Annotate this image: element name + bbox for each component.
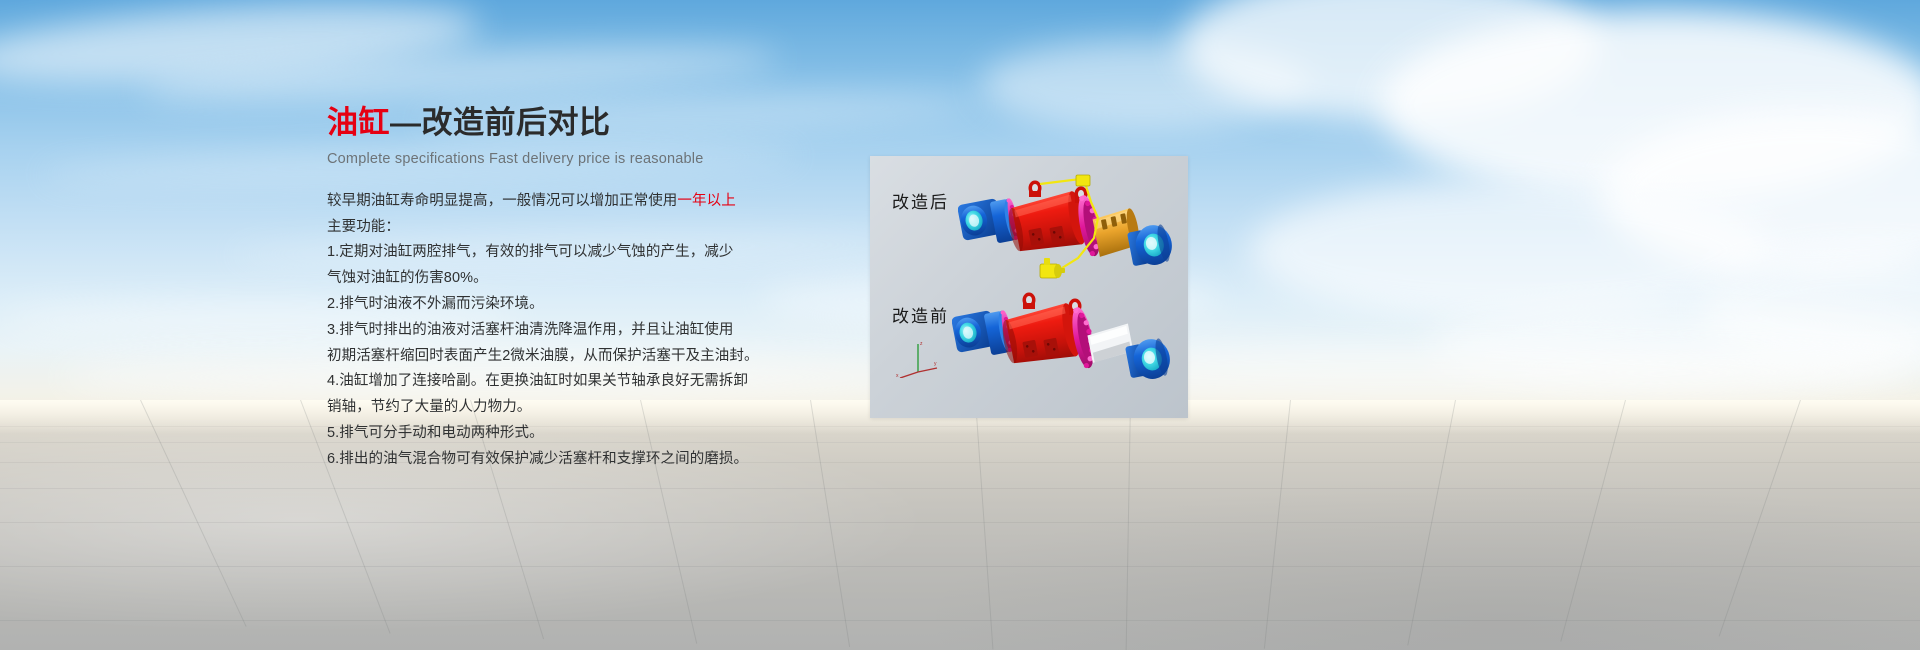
label-after-modification: 改造后 [892, 188, 949, 213]
feature-line: 5.排气可分手动和电动两种形式。 [327, 421, 847, 447]
feature-line: 4.油缸增加了连接哈副。在更换油缸时如果关节轴承良好无需拆卸 [327, 369, 847, 395]
title-highlight: 油缸 [327, 105, 390, 140]
feature-line: 初期活塞杆缩回时表面产生2微米油膜，从而保护活塞干及主油封。 [327, 344, 847, 370]
lifting-eye [1029, 181, 1042, 198]
svg-text:z: z [920, 341, 923, 347]
axis-triad-icon: z x y [896, 338, 940, 378]
feature-text: 主要功能： [327, 219, 400, 235]
feature-text: 销轴，节约了大量的人力物力。 [327, 399, 531, 415]
feature-text: 4.油缸增加了连接哈副。在更换油缸时如果关节轴承良好无需拆卸 [327, 373, 748, 389]
feature-text: 2.排气时油液不外漏而污染环境。 [327, 296, 544, 312]
feature-text: 6.排出的油气混合物可有效保护减少活塞杆和支撑环之间的磨损。 [327, 451, 748, 467]
cloud-puff [1430, 300, 1920, 390]
page-subtitle: Complete specifications Fast delivery pr… [327, 151, 847, 167]
feature-line: 气蚀对油缸的伤害80%。 [327, 266, 847, 292]
feature-line: 3.排气时排出的油液对活塞杆油清洗降温作用，并且让油缸使用 [327, 318, 847, 344]
tile-line-horizontal [0, 426, 1920, 427]
svg-text:x: x [896, 373, 899, 378]
feature-text: 较早期油缸寿命明显提高，一般情况可以增加正常使用 [327, 193, 677, 209]
banner-stage: 油缸—改造前后对比 Complete specifications Fast d… [0, 0, 1920, 650]
tile-line-horizontal [0, 566, 1920, 567]
ground-plaza [0, 400, 1920, 650]
cloud-streak [0, 0, 482, 96]
feature-line: 较早期油缸寿命明显提高，一般情况可以增加正常使用一年以上 [327, 189, 847, 215]
tile-line-horizontal [0, 462, 1920, 463]
feature-line: 6.排出的油气混合物可有效保护减少活塞杆和支撑环之间的磨损。 [327, 447, 847, 473]
vent-valve [1040, 258, 1065, 278]
feature-list: 较早期油缸寿命明显提高，一般情况可以增加正常使用一年以上 主要功能： 1.定期对… [327, 189, 847, 473]
tile-line-horizontal [0, 442, 1920, 443]
lifting-eye [1023, 293, 1036, 310]
cloud-puff [1250, 180, 1770, 320]
feature-line: 2.排气时油液不外漏而污染环境。 [327, 292, 847, 318]
tile-line-horizontal [0, 522, 1920, 523]
cloud-puff [1700, 250, 1920, 370]
feature-text: 5.排气可分手动和电动两种形式。 [327, 425, 544, 441]
feature-emphasis: 一年以上 [677, 193, 735, 209]
banner-copy: 油缸—改造前后对比 Complete specifications Fast d… [327, 104, 847, 473]
cloud-puff [1600, 110, 1920, 280]
cad-cylinder-before [952, 284, 1182, 402]
label-before-modification: 改造前 [892, 302, 949, 327]
feature-text: 气蚀对油缸的伤害80%。 [327, 270, 488, 286]
cad-cylinder-after [958, 172, 1180, 290]
tile-line-horizontal [0, 620, 1920, 621]
ground-shading [0, 400, 1920, 650]
cloud-puff [1180, 0, 1600, 120]
cloud-streak [139, 35, 780, 112]
vent-fitting [1076, 175, 1090, 186]
feature-line: 销轴，节约了大量的人力物力。 [327, 395, 847, 421]
feature-text: 3.排气时排出的油液对活塞杆油清洗降温作用，并且让油缸使用 [327, 322, 734, 338]
feature-text: 初期活塞杆缩回时表面产生2微米油膜，从而保护活塞干及主油封。 [327, 348, 759, 364]
cloud-puff [1380, 10, 1920, 200]
svg-text:y: y [934, 361, 937, 367]
page-title: 油缸—改造前后对比 [327, 104, 847, 143]
product-comparison-panel: 改造后 改造前 z x y [870, 156, 1188, 418]
feature-text: 1.定期对油缸两腔排气，有效的排气可以减少气蚀的产生，减少 [327, 244, 734, 260]
cloud-puff [980, 40, 1310, 130]
title-rest: —改造前后对比 [390, 105, 611, 140]
tile-line-horizontal [0, 488, 1920, 489]
feature-line: 主要功能： [327, 215, 847, 241]
feature-line: 1.定期对油缸两腔排气，有效的排气可以减少气蚀的产生，减少 [327, 240, 847, 266]
